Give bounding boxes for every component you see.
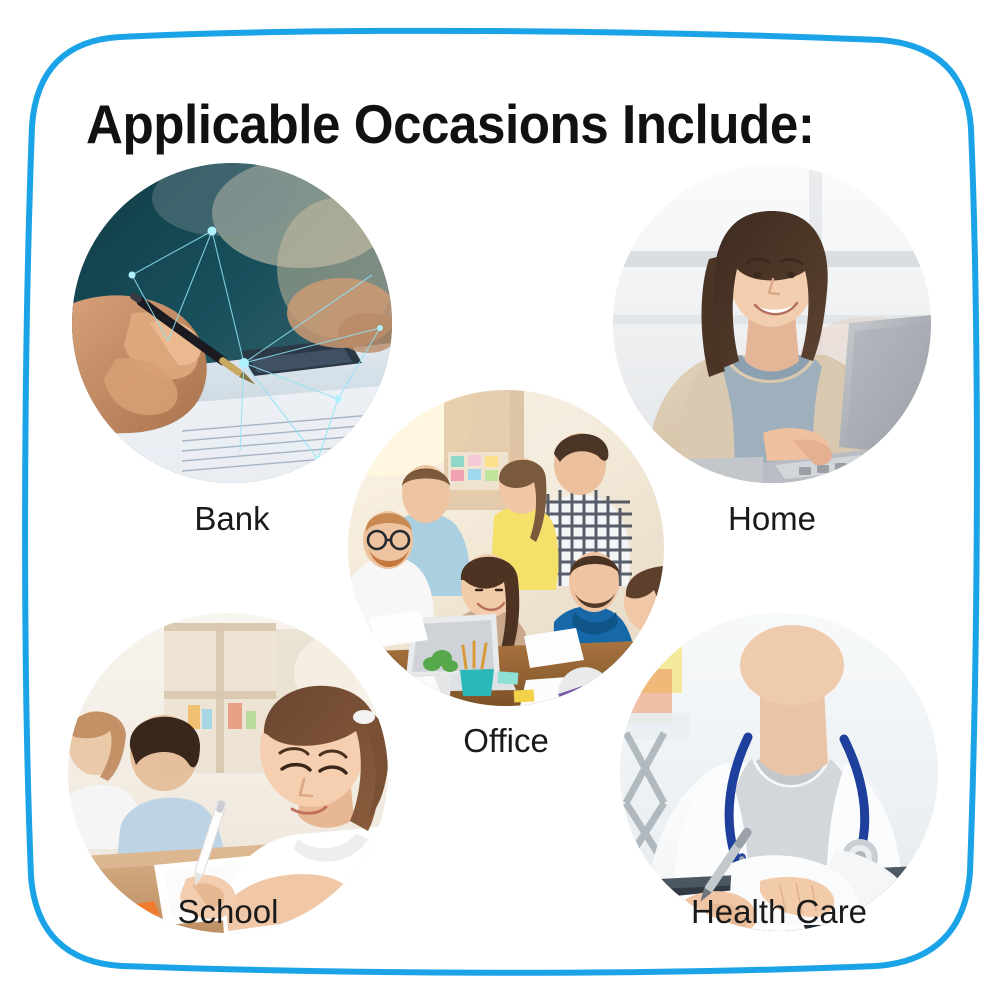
infographic-page: Applicable Occasions Include: [0,0,1000,1000]
page-title: Applicable Occasions Include: [86,92,814,156]
occasion-label-school: School [68,893,388,931]
bank-photo [72,163,392,483]
health-care-photo [620,613,938,931]
occasion-label-bank: Bank [72,500,392,538]
school-photo [68,613,388,933]
occasion-label-office: Office [348,722,664,760]
occasion-label-health-care: Health Care [620,893,938,931]
home-photo [613,165,931,483]
office-photo [348,390,664,706]
